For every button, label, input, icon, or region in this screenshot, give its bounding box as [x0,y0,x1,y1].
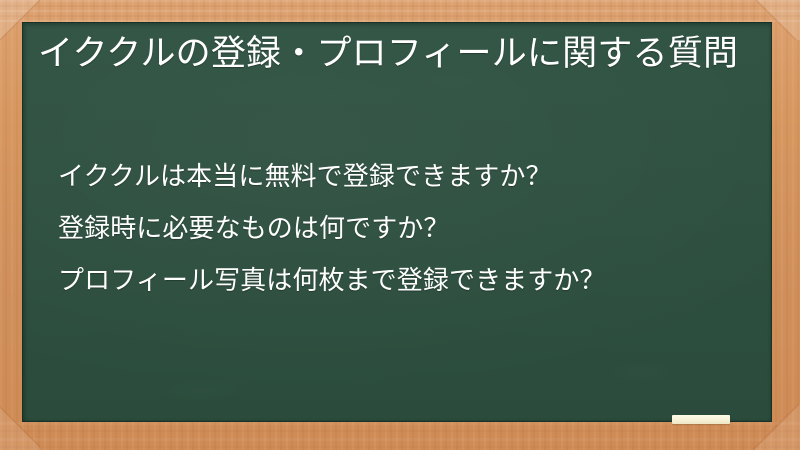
frame-grain-top [0,0,800,22]
chalk-stick-icon [672,415,730,424]
page-title: イククルの登録・プロフィールに関する質問 [38,30,744,78]
list-item: プロフィール写真は何枚まで登録できますか？ [58,254,758,306]
question-list: イククルは本当に無料で登録できますか？ 登録時に必要なものは何ですか？ プロフィ… [58,150,758,306]
chalkboard-frame: イククルの登録・プロフィールに関する質問 イククルは本当に無料で登録できますか？… [0,0,800,450]
list-item: 登録時に必要なものは何ですか？ [58,202,758,254]
chalkboard-surface: イククルの登録・プロフィールに関する質問 イククルは本当に無料で登録できますか？… [22,22,772,422]
list-item: イククルは本当に無料で登録できますか？ [58,150,758,202]
frame-grain-bottom [0,422,800,450]
